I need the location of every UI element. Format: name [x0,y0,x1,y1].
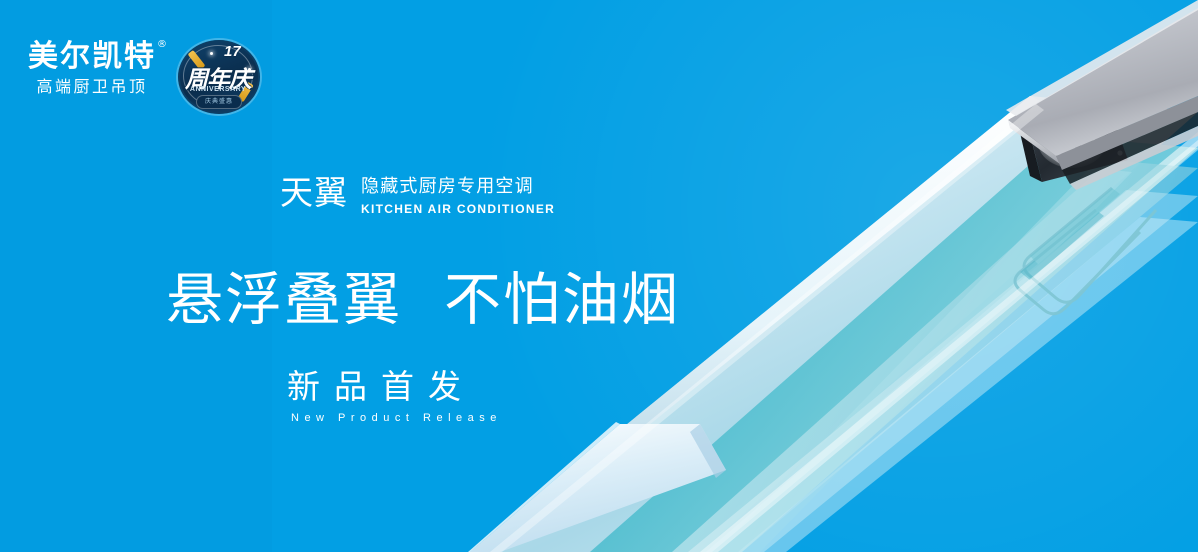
badge-chip: 庆典盛惠 [196,95,242,109]
brand-logo[interactable]: 美尔凯特® 高端厨卫吊顶 [28,42,156,95]
subline-cn: 新品首发 [287,370,502,403]
registered-mark-icon: ® [157,40,167,50]
subline: 新品首发 New Product Release [287,370,502,424]
product-name-lockup: 天翼 隐藏式厨房专用空调 KITCHEN AIR CONDITIONER [280,176,555,216]
badge-sparkle-icon [248,68,251,71]
badge-label-en: ANNIVERSARY [174,86,262,93]
headline-part-1: 悬浮叠翼 [166,267,402,333]
brand-tagline: 高端厨卫吊顶 [36,79,147,95]
product-brand-cn: 天翼 [280,176,348,209]
badge-years: 17 [224,43,241,60]
badge-sparkle-icon [210,52,213,55]
brand-name: 美尔凯特® [28,42,156,72]
headline-part-2: 不怕油烟 [444,267,680,333]
brand-logo-block[interactable]: 美尔凯特® 高端厨卫吊顶 17 周年庆 ANNIVERSARY 庆典盛惠 [28,42,266,114]
promo-banner: 美尔凯特® 高端厨卫吊顶 17 周年庆 ANNIVERSARY 庆典盛惠 天翼 … [0,0,1198,552]
anniversary-badge[interactable]: 17 周年庆 ANNIVERSARY 庆典盛惠 [170,38,266,114]
brand-name-text: 美尔凯特 [28,39,156,74]
product-descriptor-cn: 隐藏式厨房专用空调 [361,177,555,198]
product-descriptor-en: KITCHEN AIR CONDITIONER [361,202,555,216]
headline: 悬浮叠翼不怕油烟 [166,272,680,329]
subline-en: New Product Release [291,412,502,424]
